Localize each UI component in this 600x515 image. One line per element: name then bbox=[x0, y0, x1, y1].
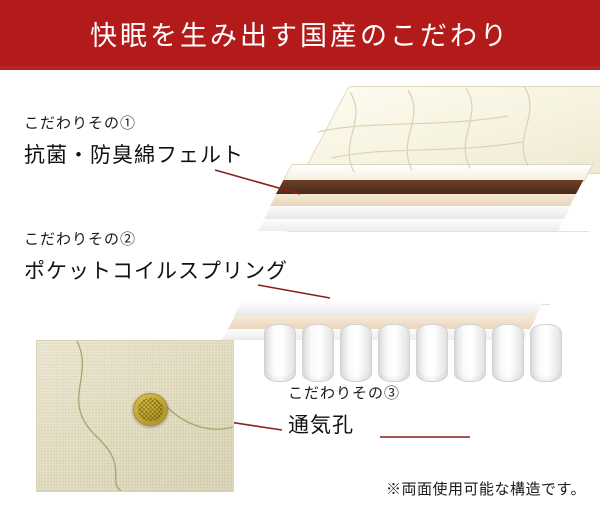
callout-felt: こだわりその① 抗菌・防臭綿フェルト bbox=[24, 112, 244, 169]
layer-pocket-coil-slab bbox=[248, 231, 589, 305]
callout-3-title: 通気孔 bbox=[288, 409, 400, 439]
coil-spring bbox=[530, 324, 562, 382]
coil-spring bbox=[302, 324, 334, 382]
callout-2-title: ポケットコイルスプリング bbox=[24, 255, 288, 285]
coil-spring bbox=[378, 324, 410, 382]
footnote-text: ※両面使用可能な構造です。 bbox=[386, 478, 586, 499]
page-root: 快眠を生み出す国産のこだわり bbox=[0, 0, 600, 515]
pocket-coil-row bbox=[264, 318, 594, 382]
vent-hole-icon bbox=[133, 393, 168, 426]
banner-gap bbox=[0, 70, 600, 76]
callout-1-title: 抗菌・防臭綿フェルト bbox=[24, 139, 244, 169]
callout-pocket-coil: こだわりその② ポケットコイルスプリング bbox=[24, 228, 288, 285]
callout-2-index: こだわりその② bbox=[24, 228, 288, 249]
mattress-illustration bbox=[258, 80, 600, 370]
header-banner: 快眠を生み出す国産のこだわり bbox=[0, 0, 600, 66]
layer-white-pad-upper-2 bbox=[258, 219, 564, 231]
coil-spring bbox=[340, 324, 372, 382]
callout-vent-hole: こだわりその③ 通気孔 bbox=[288, 382, 400, 439]
callout-3-index: こだわりその③ bbox=[288, 382, 400, 403]
vent-hole-photo bbox=[36, 340, 234, 492]
coil-spring bbox=[454, 324, 486, 382]
layer-quilted-cover bbox=[302, 86, 600, 174]
layer-white-pad-upper bbox=[264, 206, 571, 219]
callout-1-index: こだわりその① bbox=[24, 112, 244, 133]
page-title: 快眠を生み出す国産のこだわり bbox=[90, 14, 510, 53]
layer-cushion-pad-upper bbox=[270, 194, 576, 206]
coil-spring bbox=[492, 324, 524, 382]
coil-spring bbox=[264, 324, 296, 382]
coil-spring bbox=[416, 324, 448, 382]
layer-antibacterial-felt bbox=[276, 180, 583, 194]
vent-mesh bbox=[138, 398, 163, 421]
layer-white-pad-lower bbox=[234, 303, 543, 316]
